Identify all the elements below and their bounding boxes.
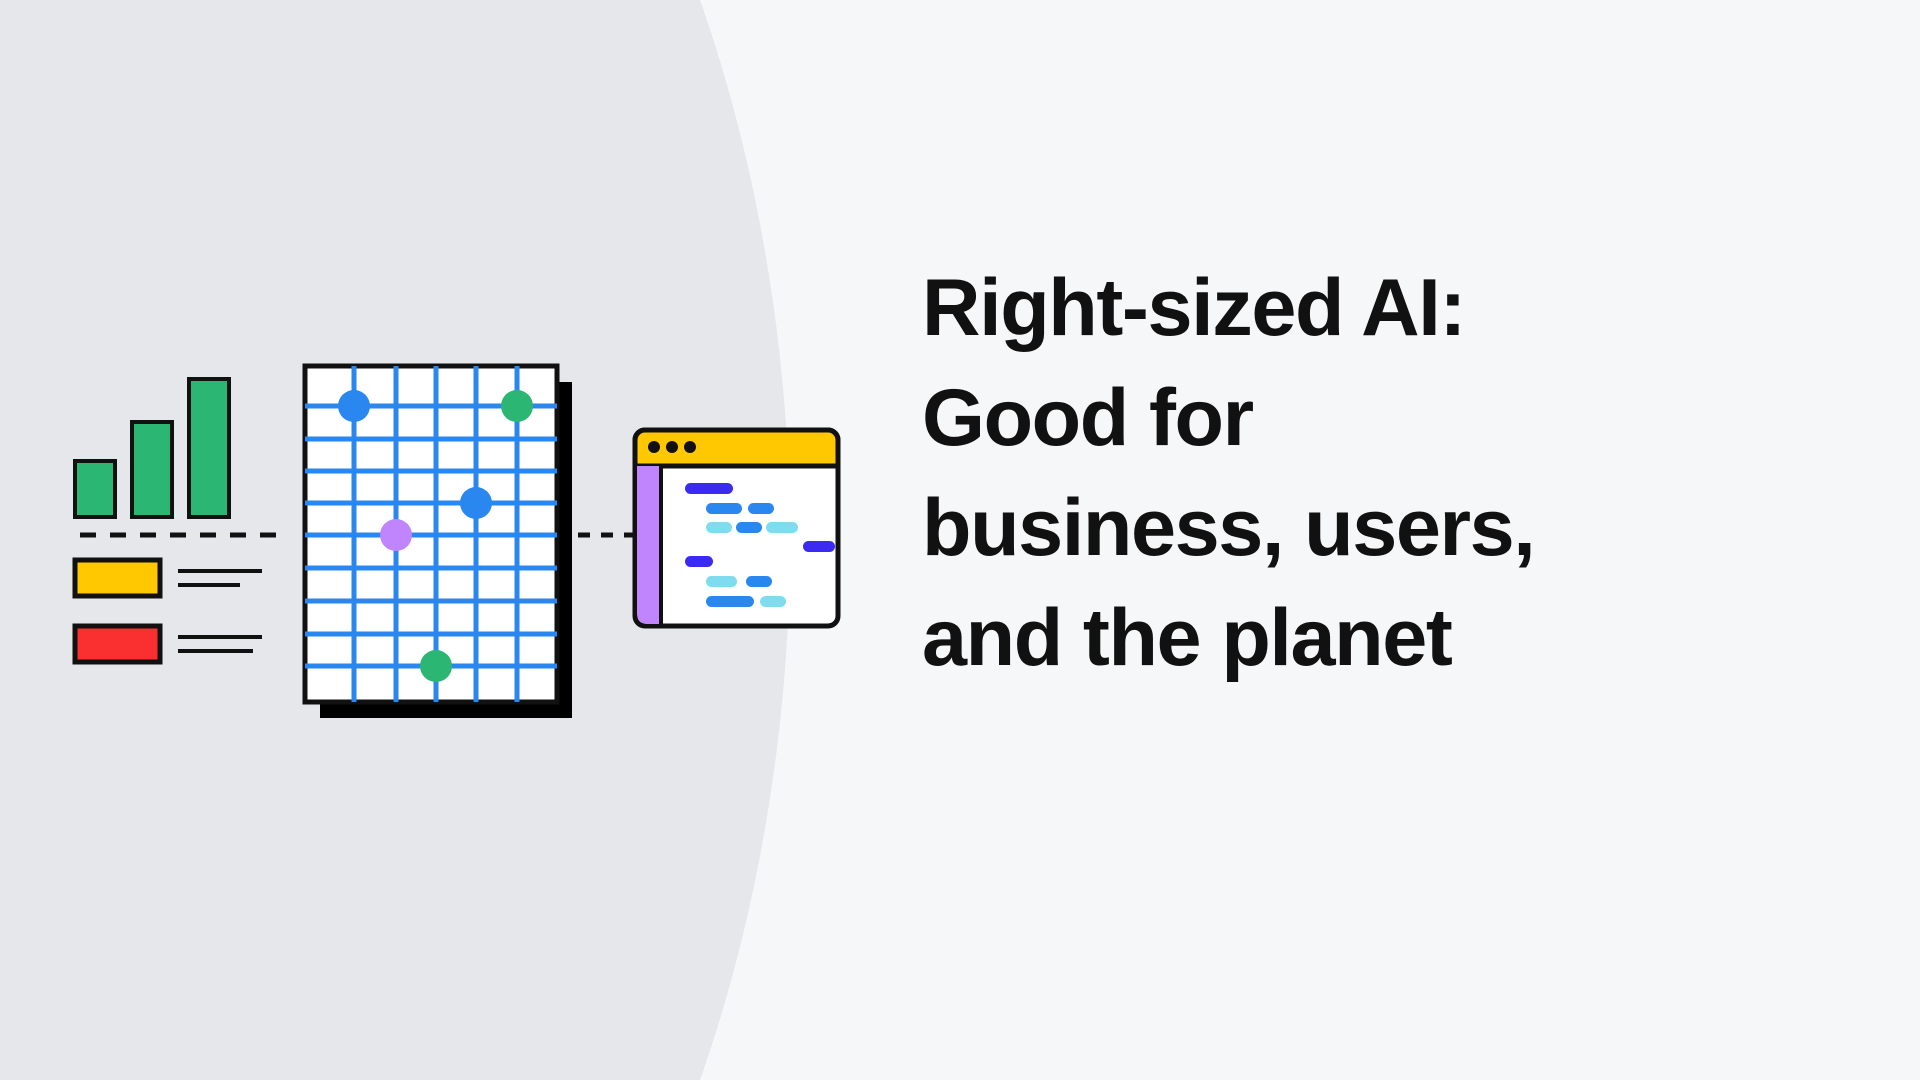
bar-chart-bar-2 — [132, 422, 172, 517]
bar-chart — [75, 379, 229, 517]
code-window-sidebar — [637, 466, 660, 624]
code-pill — [748, 503, 774, 514]
point-purple-1 — [380, 519, 412, 551]
page-title-line-2: Good for — [922, 363, 1792, 473]
window-dot-2 — [666, 441, 678, 453]
code-pill — [766, 522, 798, 533]
legend-group — [75, 560, 262, 662]
code-pill — [706, 522, 732, 533]
bar-chart-bar-3 — [189, 379, 229, 517]
scatter-grid-card — [305, 366, 572, 718]
code-window-dots — [648, 441, 696, 453]
page-title-line-3: business, users, — [922, 473, 1792, 583]
point-green-1 — [501, 390, 533, 422]
page-title-line-4: and the planet — [922, 583, 1792, 693]
bar-chart-bar-1 — [75, 461, 115, 517]
illustration-group — [0, 0, 900, 1080]
window-dot-1 — [648, 441, 660, 453]
code-pill — [736, 522, 762, 533]
code-pill — [706, 503, 742, 514]
page-title: Right-sized AI: Good for business, users… — [922, 253, 1792, 693]
point-blue-2 — [460, 487, 492, 519]
code-pill — [803, 541, 835, 552]
code-pill — [760, 596, 786, 607]
code-pill — [706, 596, 754, 607]
code-pill — [685, 483, 733, 494]
legend-swatch-critical — [75, 626, 160, 662]
code-window-titlebar — [635, 430, 838, 466]
code-window — [635, 430, 838, 626]
point-blue-1 — [338, 390, 370, 422]
page-title-line-1: Right-sized AI: — [922, 253, 1792, 363]
code-pill — [706, 576, 737, 587]
point-green-2 — [420, 650, 452, 682]
window-dot-3 — [684, 441, 696, 453]
legend-swatch-warning — [75, 560, 160, 596]
code-pill — [685, 556, 713, 567]
slide-canvas: Right-sized AI: Good for business, users… — [0, 0, 1920, 1080]
code-pill — [746, 576, 772, 587]
